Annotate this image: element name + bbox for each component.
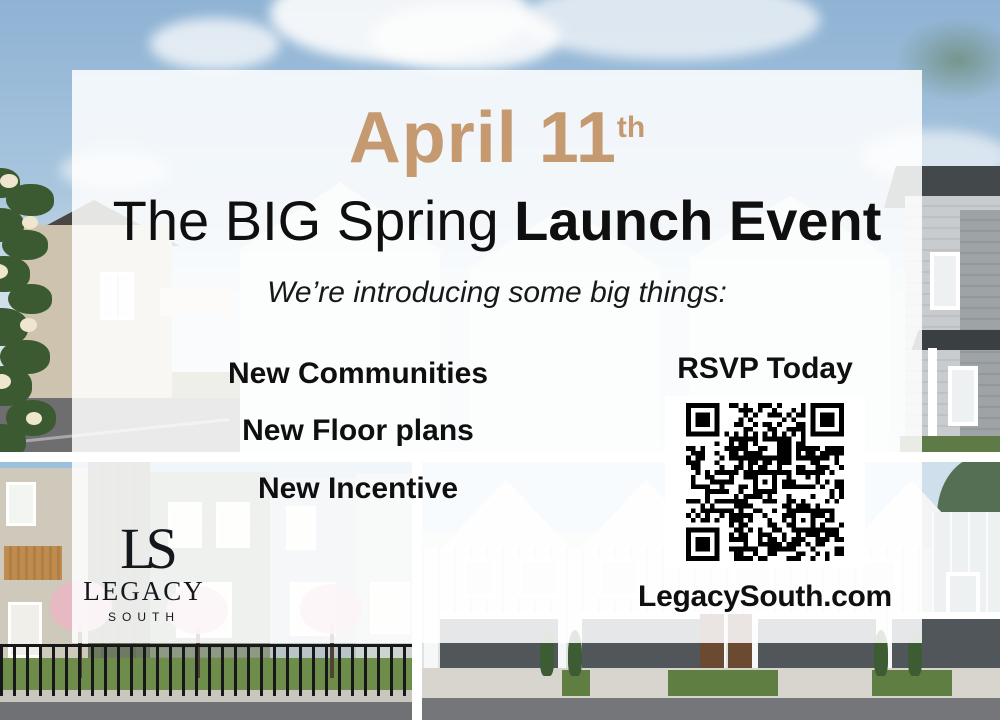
rsvp-section: RSVP Today LegacySouth.com [620, 352, 910, 614]
cloud [150, 18, 280, 70]
window [6, 482, 36, 526]
event-date-day: April 11 [349, 98, 617, 178]
balcony [4, 546, 62, 580]
logo-subtitle: SOUTH [78, 610, 210, 624]
cloud [520, 0, 820, 60]
porch-column [928, 348, 937, 448]
lawn [668, 670, 778, 696]
list-item: New Floor plans [128, 413, 588, 448]
window [930, 252, 960, 310]
window [948, 366, 978, 426]
logo-wordmark: LEGACY [78, 577, 210, 605]
road [422, 698, 1000, 720]
marketing-poster: April 11th The BIG Spring Launch Event W… [0, 0, 1000, 720]
event-date: April 11th [72, 102, 922, 174]
brand-logo: LS LEGACY SOUTH [78, 522, 210, 624]
feature-list: New Communities New Floor plans New Ince… [128, 356, 588, 528]
awning [911, 330, 1000, 350]
list-item: New Incentive [128, 471, 588, 506]
headline-bold: Launch Event [514, 189, 881, 252]
qr-code-icon[interactable] [672, 403, 858, 561]
window [946, 572, 980, 616]
website-url[interactable]: LegacySouth.com [620, 580, 910, 614]
rsvp-title: RSVP Today [620, 352, 910, 386]
road [0, 702, 412, 720]
headline-light: The BIG Spring [113, 189, 515, 252]
logo-monogram: LS [78, 522, 210, 575]
qr-code-container[interactable] [665, 396, 865, 568]
page-title: The BIG Spring Launch Event [72, 192, 922, 251]
iron-fence [0, 644, 412, 696]
subheadline: We’re introducing some big things: [72, 276, 922, 310]
list-item: New Communities [128, 356, 588, 391]
event-date-ordinal: th [617, 111, 645, 144]
